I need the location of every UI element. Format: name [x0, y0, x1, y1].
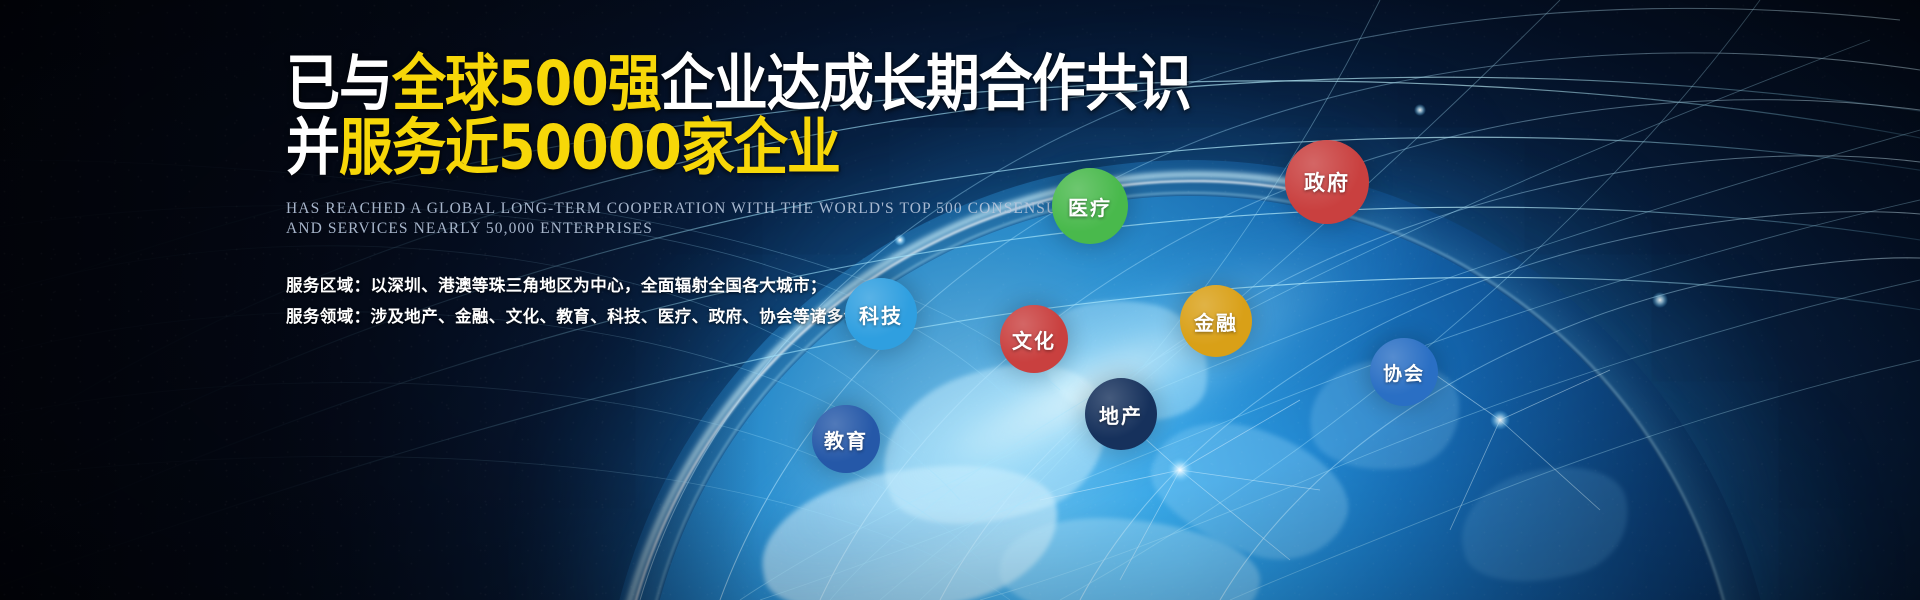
- category-badge-label: 政府: [1304, 167, 1350, 197]
- category-badge-label: 教育: [824, 425, 868, 454]
- category-badge-label: 科技: [859, 300, 903, 329]
- category-badge-6[interactable]: 地产: [1085, 378, 1157, 450]
- category-badge-4[interactable]: 文化: [1000, 305, 1068, 373]
- headline-seg-4: 并: [286, 111, 339, 183]
- category-badge-label: 文化: [1012, 325, 1056, 354]
- category-badge-3[interactable]: 金融: [1180, 285, 1252, 357]
- service-area-line: 服务区域：以深圳、港澳等珠三角地区为中心，全面辐射全国各大城市；: [286, 270, 1046, 301]
- copy-block: 已与全球500强企业达成长期合作共识 并服务近50000家企业 HAS REAC…: [286, 52, 1046, 332]
- headline-seg-5: 服务近50000家企业: [339, 111, 840, 183]
- banner-stage: 已与全球500强企业达成长期合作共识 并服务近50000家企业 HAS REAC…: [0, 0, 1920, 600]
- category-badge-label: 协会: [1383, 359, 1425, 386]
- category-badge-label: 医疗: [1068, 192, 1112, 221]
- headline-seg-2: 全球500强: [392, 47, 661, 119]
- category-badge-7[interactable]: 教育: [812, 405, 880, 473]
- subtitle-english: HAS REACHED A GLOBAL LONG-TERM COOPERATI…: [286, 199, 1046, 239]
- headline-seg-1: 已与: [286, 47, 392, 119]
- category-badge-label: 地产: [1099, 400, 1143, 429]
- category-badge-0[interactable]: 政府: [1285, 140, 1369, 224]
- body-copy: 服务区域：以深圳、港澳等珠三角地区为中心，全面辐射全国各大城市； 服务领域：涉及…: [286, 270, 1046, 332]
- subtitle-line-1: HAS REACHED A GLOBAL LONG-TERM COOPERATI…: [286, 199, 1046, 219]
- category-badge-5[interactable]: 协会: [1370, 338, 1438, 406]
- category-badge-label: 金融: [1194, 307, 1238, 336]
- headline-line-1: 已与全球500强企业达成长期合作共识: [286, 52, 1046, 115]
- headline-seg-3: 企业达成长期合作共识: [661, 47, 1191, 119]
- service-field-line: 服务领域：涉及地产、金融、文化、教育、科技、医疗、政府、协会等诸多领域。: [286, 301, 1046, 332]
- category-badge-2[interactable]: 科技: [845, 278, 917, 350]
- subtitle-line-2: AND SERVICES NEARLY 50,000 ENTERPRISES: [286, 219, 1046, 239]
- headline-line-2: 并服务近50000家企业: [286, 116, 1046, 179]
- category-badge-1[interactable]: 医疗: [1052, 168, 1128, 244]
